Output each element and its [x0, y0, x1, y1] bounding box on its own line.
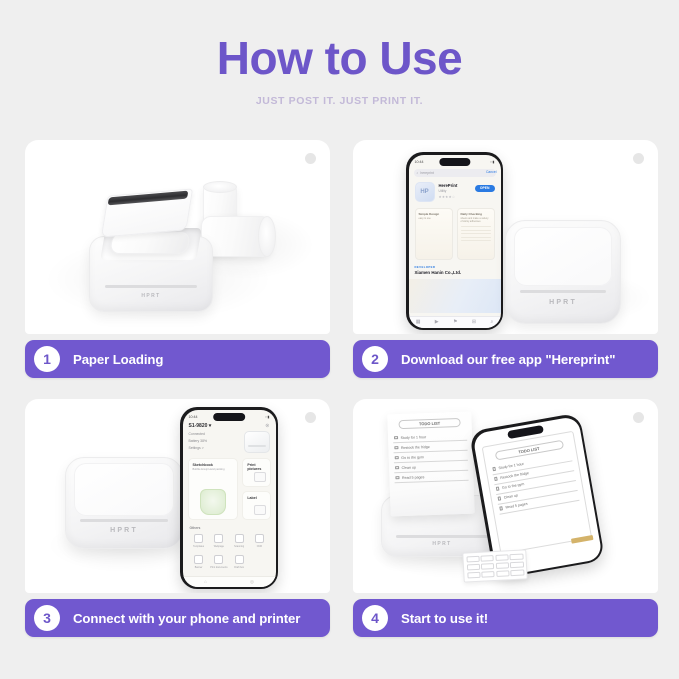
checklist-preview: TODO LIST Study for 1 hour Restock the f… — [481, 430, 592, 553]
page-subtitle: JUST POST IT. JUST PRINT IT. — [0, 95, 679, 107]
ocr-icon — [255, 534, 264, 543]
developer-name[interactable]: Xiamen Hanin Co.,Ltd. — [415, 270, 462, 275]
step-1-photo: HPRT — [25, 140, 330, 334]
step-4-number-badge: 4 — [362, 605, 388, 631]
feature-cards-column: Print pictures Label — [242, 458, 270, 520]
printer-paper-slot — [80, 519, 168, 522]
device-name: S1-9820 — [189, 423, 208, 429]
printer-lid-closed — [74, 463, 174, 515]
receipt-item: Clean up — [402, 465, 417, 469]
step-card-2: 10:44 ◦◦▮ ⌕ hereprint Cancel HP — [353, 140, 658, 378]
status-icons: ◦◦▮ — [265, 415, 270, 419]
divider — [461, 230, 491, 231]
page-title: How to Use — [0, 34, 679, 84]
others-item[interactable]: Print documents — [209, 555, 229, 569]
divider — [461, 233, 491, 234]
card-sketchbook-sub: Bubble Emoji Hand painting — [193, 468, 234, 472]
checkbox-empty-icon — [395, 456, 399, 460]
others-item[interactable]: Banner — [189, 555, 209, 569]
printer-brand-logo: HPRT — [382, 541, 502, 547]
step-1-number-badge: 1 — [34, 346, 60, 372]
step-1-label: Paper Loading — [73, 352, 163, 367]
others-section-title: Others — [190, 526, 201, 530]
receipt-item: Study for 1 hour — [400, 435, 426, 440]
step-card-3: HPRT 10:44 ◦◦▮ S1-9820 ▾ — [25, 399, 330, 637]
step-card-4: HPRT TODO LIST Study for 1 hour Restock … — [353, 399, 658, 637]
status-time: 10:44 — [415, 160, 424, 164]
receipt-item: Go to the gym — [401, 455, 424, 460]
picture-icon — [254, 472, 266, 482]
tab-arcade-icon[interactable]: ⊞ — [472, 319, 476, 325]
app-meta: HerePrint Utility ★★★★☆ — [439, 182, 471, 200]
sticker — [495, 554, 508, 561]
others-item-label: Print documents — [209, 566, 229, 569]
scene-start-to-use: HPRT TODO LIST Study for 1 hour Restock … — [353, 399, 658, 593]
sticker — [511, 569, 524, 576]
status-icons: ◦◦▮ — [490, 160, 495, 164]
checkbox-empty-icon — [492, 467, 496, 471]
printer-paper-slot — [105, 285, 198, 288]
others-item-label: Webpage — [209, 545, 229, 548]
sticker — [467, 572, 480, 579]
search-input[interactable]: ⌕ hereprint — [414, 169, 496, 177]
page-header: How to Use JUST POST IT. JUST PRINT IT. — [0, 0, 679, 107]
mascot-illustration — [200, 489, 226, 515]
sticker — [510, 561, 523, 568]
step-2-photo: 10:44 ◦◦▮ ⌕ hereprint Cancel HP — [353, 140, 658, 334]
tab-today-icon[interactable]: ▦ — [416, 319, 421, 325]
templates-icon — [194, 534, 203, 543]
open-button[interactable]: OPEN — [475, 185, 495, 192]
screenshot-1: Simple Design easy to use — [415, 208, 453, 260]
checkbox-empty-icon — [494, 477, 498, 481]
step-card-1: HPRT 1 Paper Loading — [25, 140, 330, 378]
card-label[interactable]: Label — [242, 491, 270, 520]
step-1-caption[interactable]: 1 Paper Loading — [25, 340, 330, 378]
tab-games-icon[interactable]: ▶ — [435, 319, 439, 325]
status-settings[interactable]: Settings > — [189, 446, 207, 450]
search-icon: ⌕ — [417, 171, 419, 175]
card-print-pictures-title: Print pictures — [247, 463, 265, 471]
webpage-icon — [214, 534, 223, 543]
iphone-app-home: 10:44 ◦◦▮ S1-9820 ▾ ⊗ Connected — [180, 407, 278, 589]
divider — [461, 240, 491, 241]
app-tab-bar[interactable]: ⌂ ◎ — [183, 576, 276, 587]
promo-artwork — [409, 279, 501, 313]
printer-brand-logo: HPRT — [506, 299, 620, 306]
printer-paper-slot — [520, 290, 607, 293]
device-thumbnail — [244, 431, 270, 453]
others-item-label: Templates — [189, 545, 209, 548]
step-4-photo: HPRT TODO LIST Study for 1 hour Restock … — [353, 399, 658, 593]
scene-connect-phone-printer: HPRT 10:44 ◦◦▮ S1-9820 ▾ — [25, 399, 330, 593]
chevron-down-icon: ▾ — [209, 423, 212, 429]
draft-box-icon — [235, 555, 244, 564]
status-connected: Connected — [189, 432, 207, 436]
notch — [213, 413, 245, 421]
others-item[interactable]: Templates — [189, 534, 209, 548]
others-item-label: OCR — [249, 545, 269, 548]
checkbox-empty-icon — [497, 497, 501, 501]
tab-home-icon[interactable]: ⌂ — [204, 579, 207, 584]
card-sketchbook-title: Sketchbook — [193, 463, 234, 467]
printer-brand-logo: HPRT — [66, 527, 182, 534]
others-item-label: Banner — [189, 566, 209, 569]
others-item-label: Draft box — [229, 566, 249, 569]
how-to-use-page: How to Use JUST POST IT. JUST PRINT IT. — [0, 0, 679, 679]
feature-cards: Sketchbook Bubble Emoji Hand painting Pr… — [188, 458, 271, 520]
rating-stars: ★★★★☆ — [439, 195, 471, 199]
scene-paper-loading: HPRT — [25, 140, 330, 334]
status-time: 10:44 — [189, 415, 198, 419]
close-icon[interactable]: ⊗ — [265, 423, 269, 429]
notch — [439, 158, 470, 166]
tab-apps-icon[interactable]: ⚑ — [453, 319, 457, 325]
printed-receipt-left: TODO LIST Study for 1 hour Restock the f… — [387, 412, 475, 517]
sticker — [496, 570, 509, 577]
printer-body: HPRT — [65, 457, 183, 549]
developer-label: DEVELOPER — [415, 265, 436, 269]
sticker — [481, 555, 494, 562]
tab-bar[interactable]: ▦ ▶ ⚑ ⊞ ⌕ — [409, 316, 501, 328]
screenshot-2-sub: sheets and make a variety of sticky adhe… — [461, 217, 491, 224]
sticker — [510, 553, 523, 560]
others-item[interactable]: Scanning — [229, 534, 249, 548]
step-3-label: Connect with your phone and printer — [73, 611, 300, 626]
step-2-label: Download our free app "Hereprint" — [401, 352, 615, 367]
others-grid: Templates Webpage Scanning — [189, 534, 270, 569]
card-label-title: Label — [247, 496, 265, 500]
device-selector[interactable]: S1-9820 ▾ — [189, 423, 212, 429]
step-4-label: Start to use it! — [401, 611, 488, 626]
card-sketchbook[interactable]: Sketchbook Bubble Emoji Hand painting — [188, 458, 239, 520]
step-3-caption[interactable]: 3 Connect with your phone and printer — [25, 599, 330, 637]
receipt-item: Read 5 pages — [402, 475, 425, 480]
printer-lid-closed — [514, 227, 612, 286]
app-subtitle: Utility — [439, 189, 471, 193]
sticker — [481, 563, 494, 570]
receipt-item: Read 5 pages — [505, 502, 528, 510]
status-battery: Battery 38% — [189, 439, 207, 443]
step-2-caption[interactable]: 2 Download our free app "Hereprint" — [353, 340, 658, 378]
receipt-item: Restock the fridge — [401, 445, 430, 450]
checkbox-empty-icon — [499, 506, 503, 510]
sticker — [466, 555, 479, 562]
others-item[interactable]: OCR — [249, 534, 269, 548]
checkbox-empty-icon — [395, 466, 399, 470]
sticker-sheet — [462, 549, 527, 582]
divider — [461, 226, 491, 227]
divider — [461, 237, 491, 238]
app-home-screen: 10:44 ◦◦▮ S1-9820 ▾ ⊗ Connected — [183, 410, 276, 587]
screenshot-1-sub: easy to use — [419, 217, 449, 221]
scanning-icon — [235, 534, 244, 543]
others-item-label: Scanning — [229, 545, 249, 548]
printer-brand-logo: HPRT — [90, 293, 212, 299]
tab-profile-icon[interactable]: ◎ — [250, 579, 254, 585]
receipt-item: Clean up — [503, 493, 518, 499]
step-3-photo: HPRT 10:44 ◦◦▮ S1-9820 ▾ — [25, 399, 330, 593]
label-icon — [254, 505, 266, 515]
app-icon: HP — [415, 182, 435, 202]
others-item[interactable]: Webpage — [209, 534, 229, 548]
receipt-row: Read 5 pages — [394, 471, 468, 484]
checkbox-empty-icon — [394, 446, 398, 450]
cancel-button[interactable]: Cancel — [486, 170, 497, 174]
others-item-empty — [249, 555, 269, 569]
scene-download-app: 10:44 ◦◦▮ ⌕ hereprint Cancel HP — [353, 140, 658, 334]
iphone-app-store: 10:44 ◦◦▮ ⌕ hereprint Cancel HP — [406, 152, 503, 330]
step-2-number-badge: 2 — [362, 346, 388, 372]
sticker — [496, 562, 509, 569]
step-4-caption[interactable]: 4 Start to use it! — [353, 599, 658, 637]
printer-body: HPRT — [505, 220, 621, 324]
step-3-number-badge: 3 — [34, 605, 60, 631]
banner-icon — [194, 555, 203, 564]
paper-roll-lying-cap — [258, 216, 276, 257]
steps-grid: HPRT 1 Paper Loading — [25, 140, 658, 637]
checkbox-empty-icon — [495, 487, 499, 491]
app-result-row[interactable]: HP HerePrint Utility ★★★★☆ OPEN — [415, 182, 495, 204]
app-name: HerePrint — [439, 183, 471, 188]
screenshot-2-title: Daily Checking — [461, 212, 491, 216]
screenshot-gallery[interactable]: Simple Design easy to use Daily Checking… — [415, 208, 495, 260]
receipt-title: TODO LIST — [398, 418, 460, 429]
screenshot-1-title: Simple Design — [419, 212, 449, 216]
search-text: hereprint — [420, 171, 433, 175]
printer-paper-slot — [396, 535, 487, 538]
print-documents-icon — [214, 555, 223, 564]
checkbox-empty-icon — [394, 436, 398, 440]
tab-search-icon[interactable]: ⌕ — [490, 319, 493, 325]
app-store-screen: 10:44 ◦◦▮ ⌕ hereprint Cancel HP — [409, 155, 501, 328]
sticker — [466, 563, 479, 570]
sticker — [481, 571, 494, 578]
card-print-pictures[interactable]: Print pictures — [242, 458, 270, 487]
checkbox-empty-icon — [395, 476, 399, 480]
paper-roll-standing-top — [203, 181, 237, 193]
device-status-list: Connected Battery 38% Settings > — [189, 432, 207, 453]
others-item[interactable]: Draft box — [229, 555, 249, 569]
screenshot-2: Daily Checking sheets and make a variety… — [457, 208, 495, 260]
receipt-item: Go to the gym — [502, 482, 525, 490]
